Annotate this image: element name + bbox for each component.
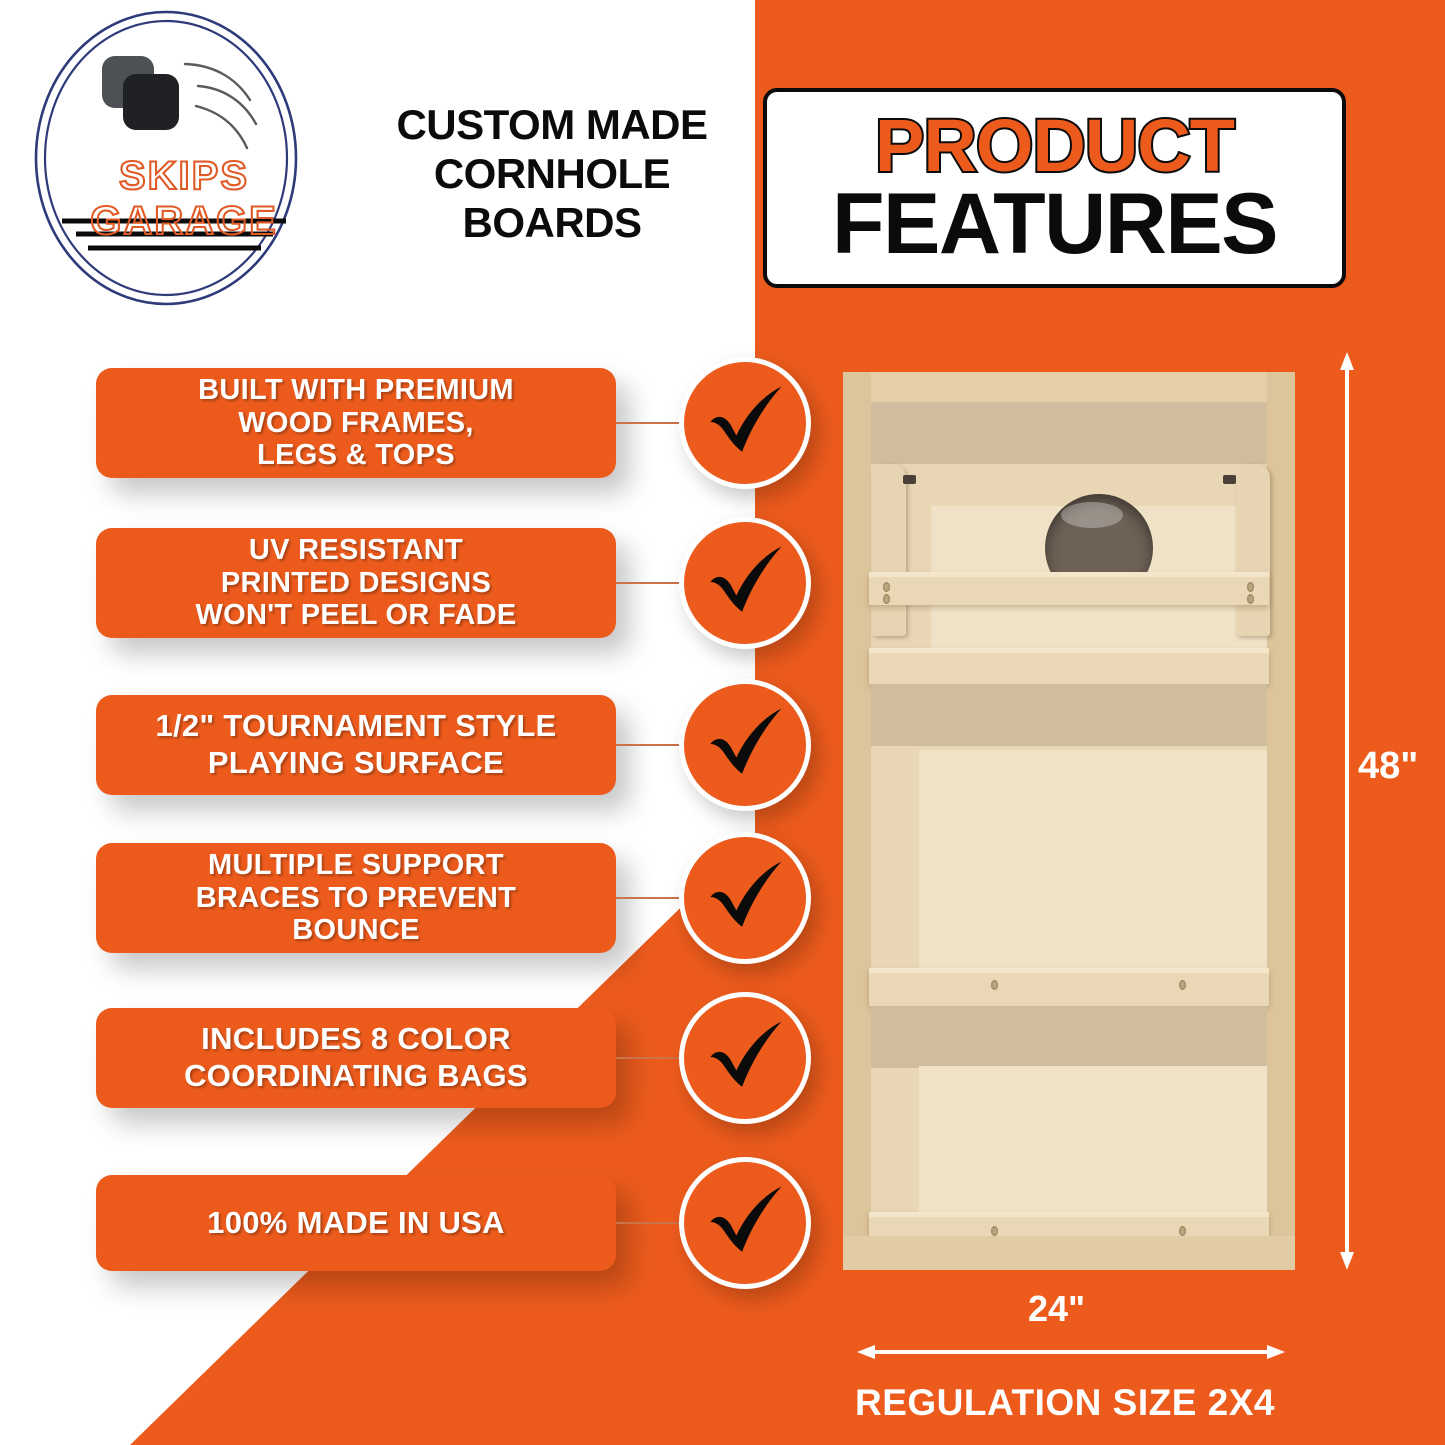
- hole-highlight: [1061, 502, 1123, 528]
- regulation-size-text: REGULATION SIZE 2X4: [855, 1382, 1275, 1424]
- page-title-line-1: CUSTOM MADE: [352, 100, 752, 149]
- feature-check-badge: [679, 832, 811, 964]
- check-mark-icon: [697, 697, 793, 793]
- product-features-banner: PRODUCT FEATURES: [763, 88, 1346, 288]
- brand-logo: SKIPS GARAGE: [18, 8, 348, 308]
- brace-screw: [1247, 582, 1254, 592]
- board-bottom-rail: [843, 1236, 1295, 1270]
- width-label: 24": [1028, 1288, 1085, 1330]
- bay-inner-shadow: [871, 684, 1267, 746]
- feature-check-badge: [679, 679, 811, 811]
- brace-screw: [991, 980, 998, 990]
- infographic-page: SKIPS GARAGE CUSTOM MADE CORNHOLE BOARDS…: [0, 0, 1445, 1445]
- feature-text-line: PLAYING SURFACE: [155, 745, 556, 782]
- brace-screw: [883, 582, 890, 592]
- brace-screw: [991, 1226, 998, 1236]
- banner-word-features: FEATURES: [832, 183, 1277, 266]
- board-upper-bay: [871, 402, 1267, 662]
- leg-bolt-right: [1223, 475, 1236, 484]
- check-mark-icon: [697, 375, 793, 471]
- board-right-rail: [1267, 372, 1295, 1270]
- width-dimension-arrow: [857, 1345, 1285, 1359]
- feature-pill: 1/2" TOURNAMENT STYLE PLAYING SURFACE: [96, 695, 616, 795]
- brace-top-edge: [869, 648, 1269, 653]
- bay-inner-shadow: [871, 402, 1267, 464]
- feature-text-line: PRINTED DESIGNS: [195, 567, 516, 599]
- check-mark-icon: [697, 535, 793, 631]
- logo-wordmark: SKIPS GARAGE: [24, 154, 344, 244]
- board-leg-right: [1236, 464, 1270, 636]
- brace-screw: [1179, 1226, 1186, 1236]
- feature-text-line: LEGS & TOPS: [198, 439, 514, 471]
- support-brace: [869, 648, 1269, 684]
- brace-top-edge: [869, 968, 1269, 973]
- bay-inner-shadow: [871, 1006, 1267, 1068]
- page-title: CUSTOM MADE CORNHOLE BOARDS: [352, 100, 752, 247]
- board-top-rail: [843, 372, 1295, 402]
- height-dimension-arrow: [1340, 352, 1354, 1270]
- brace-top-edge: [869, 1212, 1269, 1217]
- feature-text-line: BUILT WITH PREMIUM: [198, 374, 514, 406]
- board-leg-left: [872, 464, 906, 636]
- banner-word-product: PRODUCT: [875, 110, 1234, 181]
- product-photo: [843, 372, 1295, 1270]
- brace-screw: [883, 594, 890, 604]
- board-middle-bay: [871, 684, 1267, 980]
- feature-pill: 100% MADE IN USA: [96, 1175, 616, 1271]
- leg-bolt-left: [903, 475, 916, 484]
- feature-text-line: UV RESISTANT: [195, 534, 516, 566]
- feature-text-line: BOUNCE: [196, 914, 516, 946]
- feature-check-badge: [679, 517, 811, 649]
- page-title-line-2: CORNHOLE: [352, 149, 752, 198]
- check-mark-icon: [697, 1175, 793, 1271]
- feature-pill: INCLUDES 8 COLOR COORDINATING BAGS: [96, 1008, 616, 1108]
- feature-pill: MULTIPLE SUPPORT BRACES TO PREVENT BOUNC…: [96, 843, 616, 953]
- check-mark-icon: [697, 1010, 793, 1106]
- feature-text-line: WOOD FRAMES,: [198, 407, 514, 439]
- feature-text-line: 100% MADE IN USA: [207, 1205, 505, 1242]
- feature-text-line: MULTIPLE SUPPORT: [196, 849, 516, 881]
- height-label: 48": [1358, 745, 1418, 788]
- bean-bag-icon: [102, 56, 179, 130]
- board-left-rail: [843, 372, 871, 1270]
- page-title-line-3: BOARDS: [352, 198, 752, 247]
- feature-text-line: COORDINATING BAGS: [184, 1058, 528, 1095]
- feature-pill: BUILT WITH PREMIUM WOOD FRAMES, LEGS & T…: [96, 368, 616, 478]
- board-inner-panel: [919, 750, 1267, 980]
- feature-check-badge: [679, 992, 811, 1124]
- check-mark-icon: [697, 850, 793, 946]
- brace-screw: [1179, 980, 1186, 990]
- feature-text-line: BRACES TO PREVENT: [196, 882, 516, 914]
- support-brace: [869, 572, 1269, 605]
- feature-text-line: WON'T PEEL OR FADE: [195, 599, 516, 631]
- brace-top-edge: [869, 572, 1269, 577]
- feature-pill: UV RESISTANT PRINTED DESIGNS WON'T PEEL …: [96, 528, 616, 638]
- feature-text-line: 1/2" TOURNAMENT STYLE: [155, 708, 556, 745]
- board-lower-bay: [871, 1006, 1267, 1236]
- feature-text-line: INCLUDES 8 COLOR: [184, 1021, 528, 1058]
- motion-arc-icon: [185, 64, 256, 148]
- support-brace: [869, 968, 1269, 1006]
- feature-check-badge: [679, 357, 811, 489]
- feature-check-badge: [679, 1157, 811, 1289]
- board-inner-panel: [919, 1066, 1267, 1236]
- brace-screw: [1247, 594, 1254, 604]
